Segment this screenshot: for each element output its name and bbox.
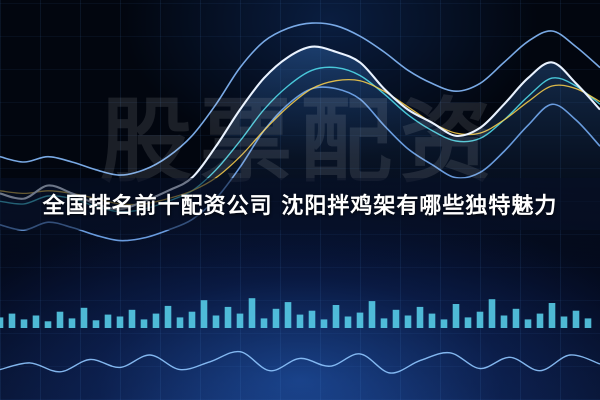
volume-bar [33, 316, 40, 329]
volume-bar [417, 307, 424, 328]
volume-bar [81, 308, 88, 328]
volume-bar [513, 309, 520, 328]
volume-bar [9, 314, 16, 328]
volume-bar [69, 318, 76, 328]
volume-bar [321, 319, 328, 328]
volume-bar [561, 317, 568, 329]
volume-bar [381, 318, 388, 328]
volume-bar [357, 313, 364, 328]
volume-bar [165, 306, 172, 328]
volume-bar [213, 316, 220, 329]
stock-chart-image: 股票配资 全国排名前十配资公司 沈阳拌鸡架有哪些独特魅力 [0, 0, 600, 400]
page-title: 全国排名前十配资公司 沈阳拌鸡架有哪些独特魅力 [43, 188, 558, 220]
volume-bar [21, 319, 28, 328]
volume-bar [537, 314, 544, 328]
volume-bar [309, 311, 316, 328]
volume-bar [573, 311, 580, 328]
volume-bar [345, 317, 352, 329]
volume-bar [153, 314, 160, 328]
volume-bar [477, 312, 484, 328]
volume-bar [0, 317, 3, 328]
volume-bar [441, 319, 448, 328]
volume-bar [297, 315, 304, 328]
volume-bar [465, 317, 472, 328]
volume-bar [525, 319, 532, 328]
volume-bar [549, 303, 556, 328]
volume-bar [105, 315, 112, 328]
volume-bar [501, 316, 508, 329]
volume-panel [0, 298, 591, 328]
volume-bar [93, 320, 100, 328]
price-panel [0, 23, 600, 272]
volume-bar [45, 321, 52, 328]
volume-bar [285, 302, 292, 328]
volume-bar [57, 312, 64, 328]
volume-bar [189, 312, 196, 328]
volume-bar [117, 317, 124, 329]
indicator-panel [0, 352, 600, 374]
volume-bar [453, 304, 460, 328]
volume-bar [261, 318, 268, 328]
volume-bar [201, 300, 208, 328]
volume-bar [249, 298, 256, 328]
volume-bar [129, 310, 136, 328]
title-banner: 全国排名前十配资公司 沈阳拌鸡架有哪些独特魅力 [0, 178, 600, 230]
volume-bar [177, 317, 184, 328]
volume-bar [141, 319, 148, 328]
volume-bar [585, 318, 592, 328]
volume-bar [225, 307, 232, 328]
volume-bar [369, 301, 376, 328]
volume-bar [237, 314, 244, 328]
volume-bar [405, 316, 412, 329]
volume-bar [489, 299, 496, 328]
volume-bar [393, 310, 400, 328]
volume-bar [273, 309, 280, 328]
volume-bar [429, 314, 436, 328]
volume-bar [333, 305, 340, 328]
